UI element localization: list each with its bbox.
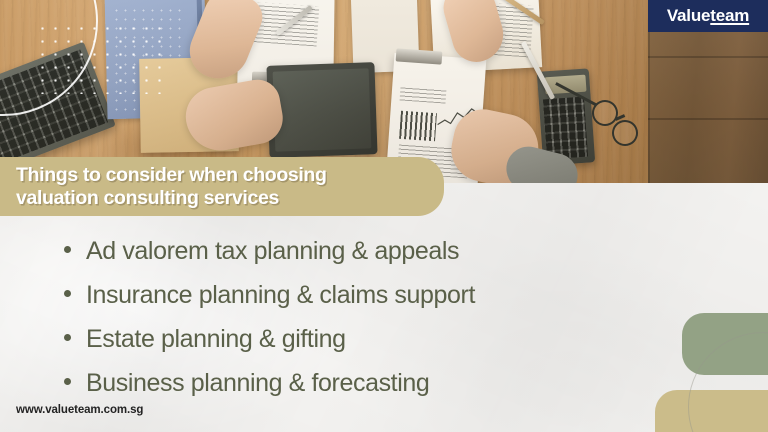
title-banner: Things to consider when choosing valuati… bbox=[0, 157, 444, 216]
bullet-point-icon bbox=[64, 378, 71, 385]
logo-text-suffix: team bbox=[710, 6, 749, 25]
title-line-2: valuation consulting services bbox=[16, 187, 444, 210]
list-item: Estate planning & gifting bbox=[64, 324, 684, 359]
bullet-point-icon bbox=[64, 334, 71, 341]
logo-text: Valueteam bbox=[667, 6, 749, 26]
list-item-label: Business planning & forecasting bbox=[86, 368, 429, 399]
list-item: Ad valorem tax planning & appeals bbox=[64, 236, 684, 271]
list-item: Insurance planning & claims support bbox=[64, 280, 684, 315]
logo-text-prefix: Value bbox=[667, 6, 710, 25]
website-url[interactable]: www.valueteam.com.sg bbox=[16, 404, 143, 416]
list-item-label: Ad valorem tax planning & appeals bbox=[86, 236, 459, 267]
list-item: Business planning & forecasting bbox=[64, 368, 684, 403]
bullet-list: Ad valorem tax planning & appeals Insura… bbox=[64, 236, 684, 412]
title-line-1: Things to consider when choosing bbox=[16, 164, 444, 187]
infographic-slide: Valueteam Things to consider when choosi… bbox=[0, 0, 768, 432]
bullet-point-icon bbox=[64, 290, 71, 297]
valueteam-logo[interactable]: Valueteam bbox=[648, 0, 768, 32]
bullet-point-icon bbox=[64, 246, 71, 253]
list-item-label: Estate planning & gifting bbox=[86, 324, 346, 355]
list-item-label: Insurance planning & claims support bbox=[86, 280, 475, 311]
